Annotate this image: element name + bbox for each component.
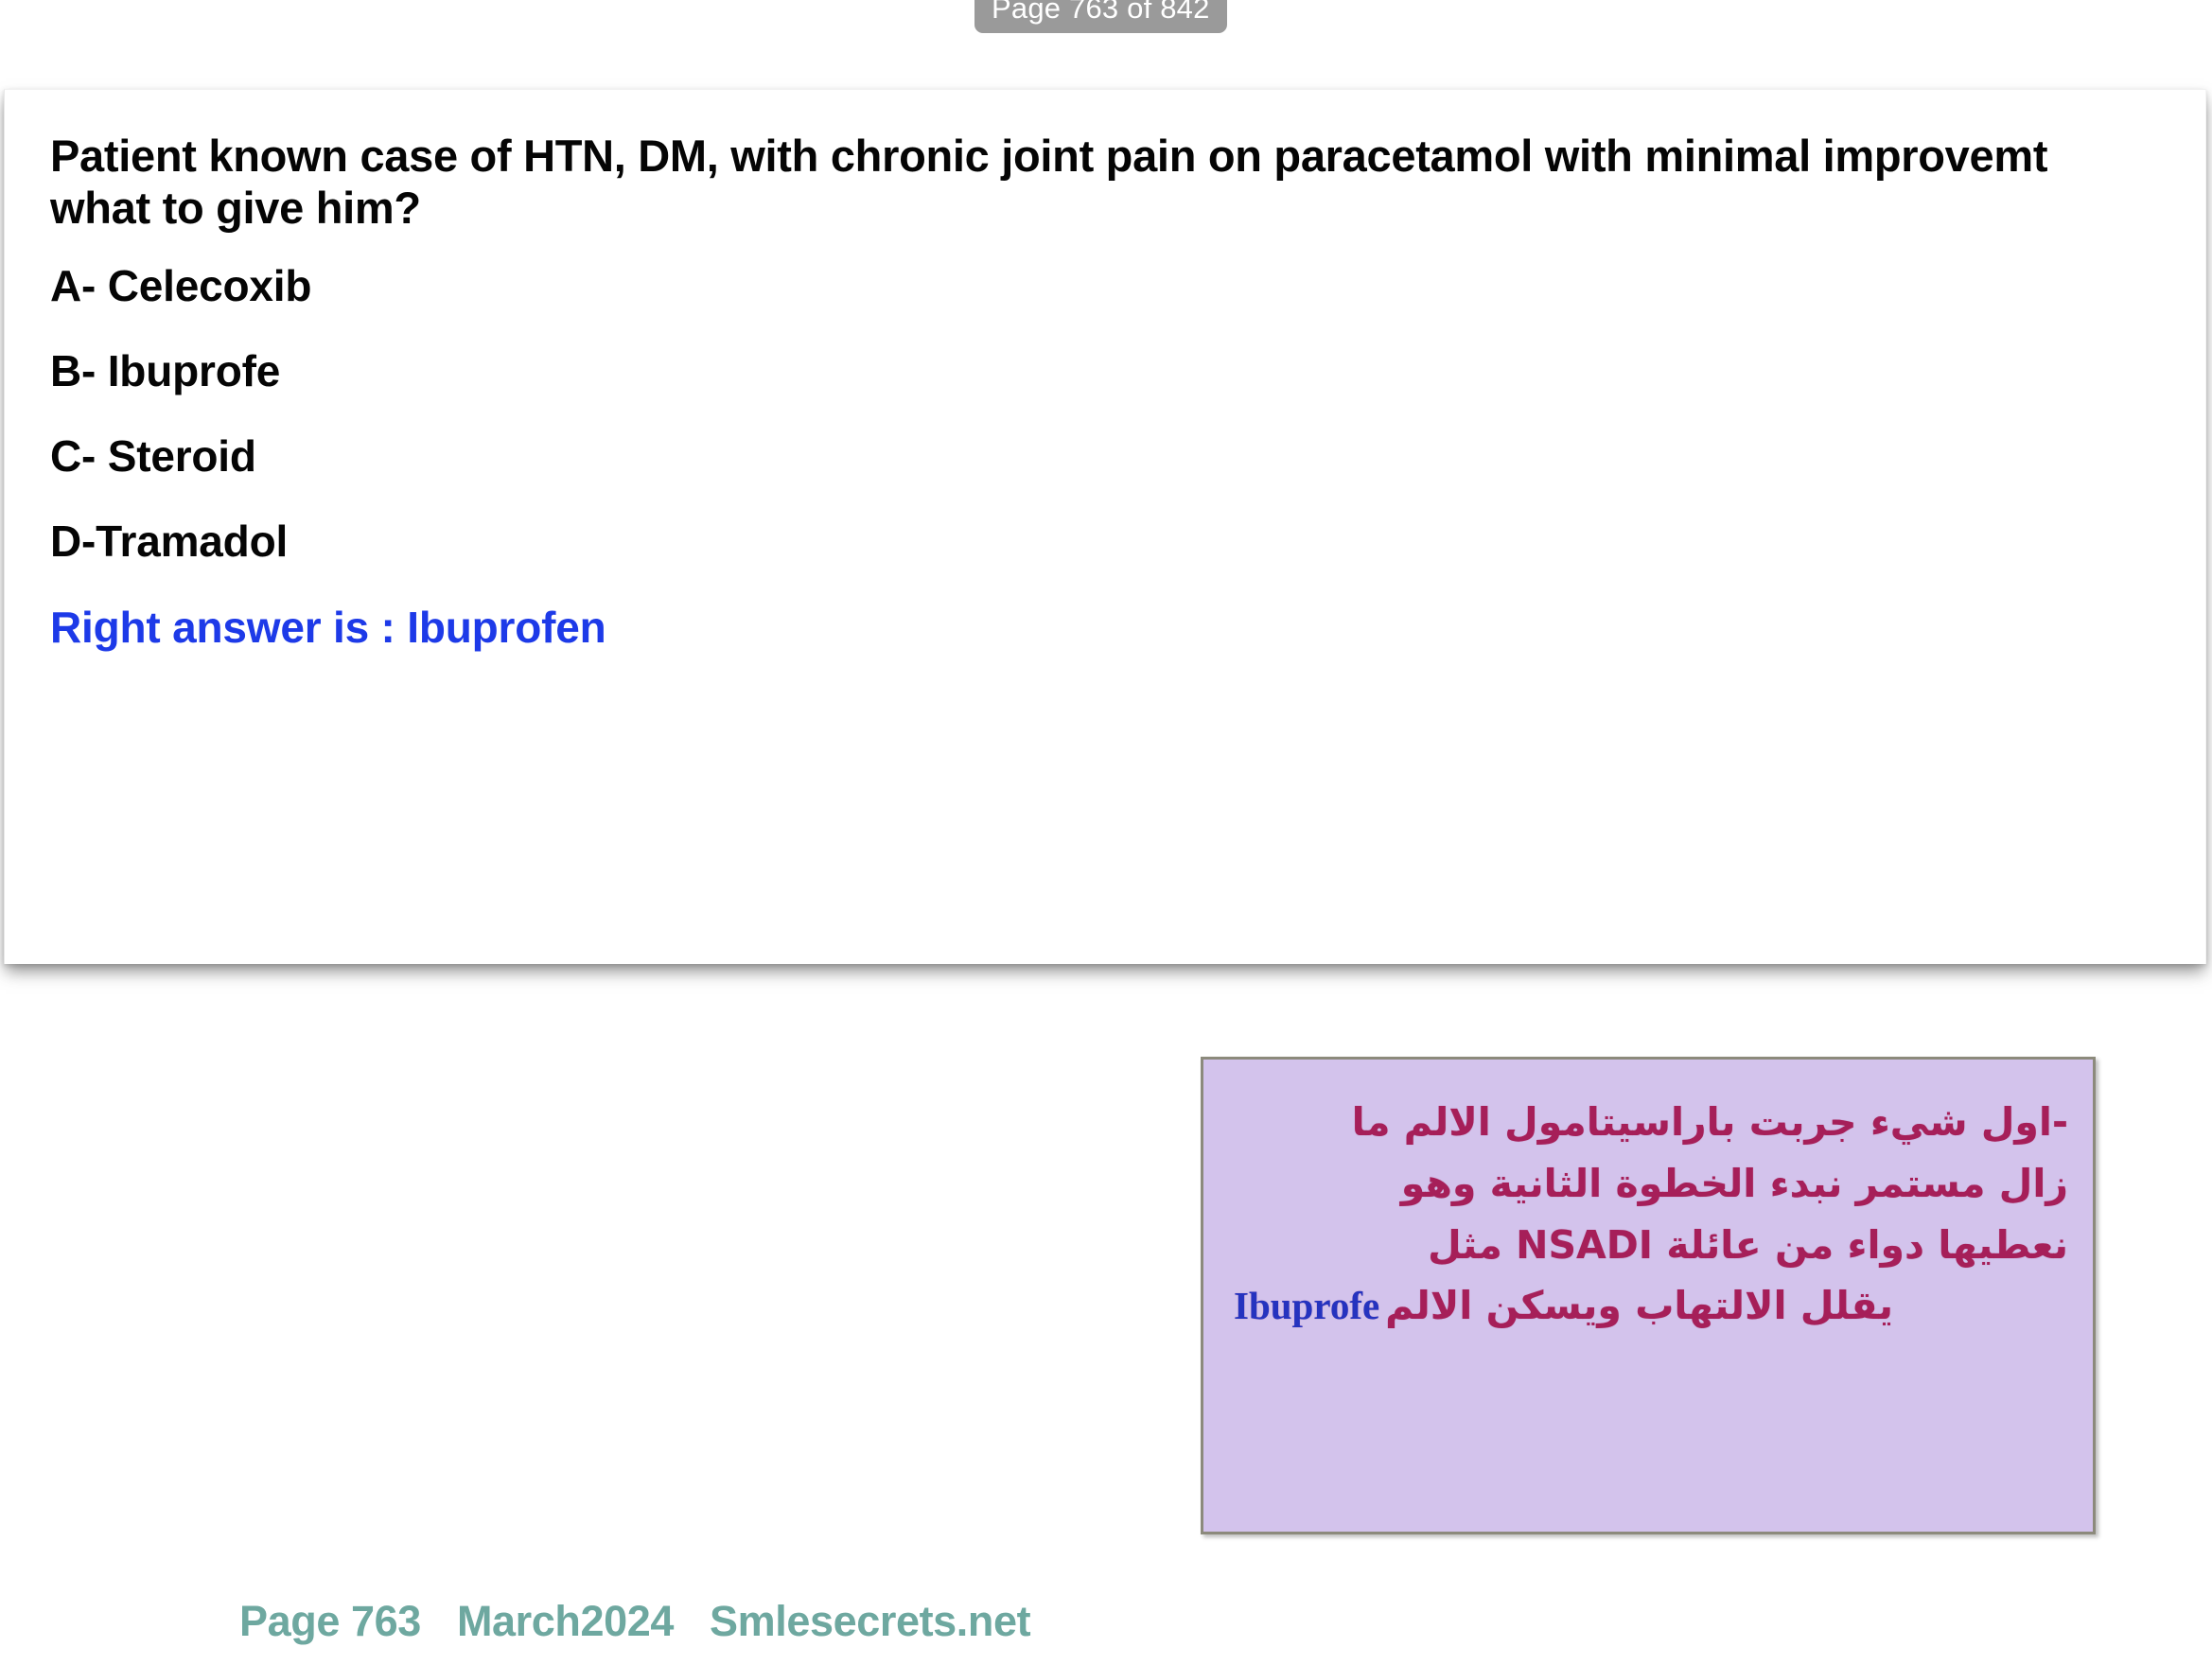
arabic-note-line-3: نعطيها دواء من عائلة NSADI مثل xyxy=(1228,1215,2068,1276)
arabic-note-drug-name: Ibuprofe xyxy=(1228,1275,1385,1337)
footer-site: Smlesecrets.net xyxy=(710,1597,1030,1646)
footer-page-number: Page 763 xyxy=(239,1597,421,1646)
option-b[interactable]: B- Ibuprofe xyxy=(50,329,2160,414)
question-card: Patient known case of HTN, DM, with chro… xyxy=(4,89,2206,964)
option-c[interactable]: C- Steroid xyxy=(50,414,2160,499)
question-stem: Patient known case of HTN, DM, with chro… xyxy=(50,130,2061,235)
option-a[interactable]: A- Celecoxib xyxy=(50,244,2160,329)
option-d[interactable]: D-Tramadol xyxy=(50,499,2160,585)
page-indicator-badge: Page 763 of 842 xyxy=(974,0,1227,33)
arabic-explanation-note: -اول شيء جربت باراسيتامول الالم ما زال م… xyxy=(1201,1057,2096,1534)
arabic-note-line-4-after: يقلل الالتهاب ويسكن الالم xyxy=(1385,1275,1893,1337)
arabic-note-line-2: زال مستمر نبدء الخطوة الثانية وهو xyxy=(1228,1153,2068,1215)
arabic-note-line-4: يقلل الالتهاب ويسكن الالم Ibuprofe xyxy=(1228,1275,2068,1337)
correct-answer-text: Right answer is : Ibuprofen xyxy=(50,585,2160,672)
question-card-content: Patient known case of HTN, DM, with chro… xyxy=(5,90,2205,672)
arabic-note-line-1: -اول شيء جربت باراسيتامول الالم ما xyxy=(1228,1092,2068,1153)
page-footer: Page 763 March2024 Smlesecrets.net xyxy=(239,1597,1030,1646)
footer-date: March2024 xyxy=(457,1597,674,1646)
